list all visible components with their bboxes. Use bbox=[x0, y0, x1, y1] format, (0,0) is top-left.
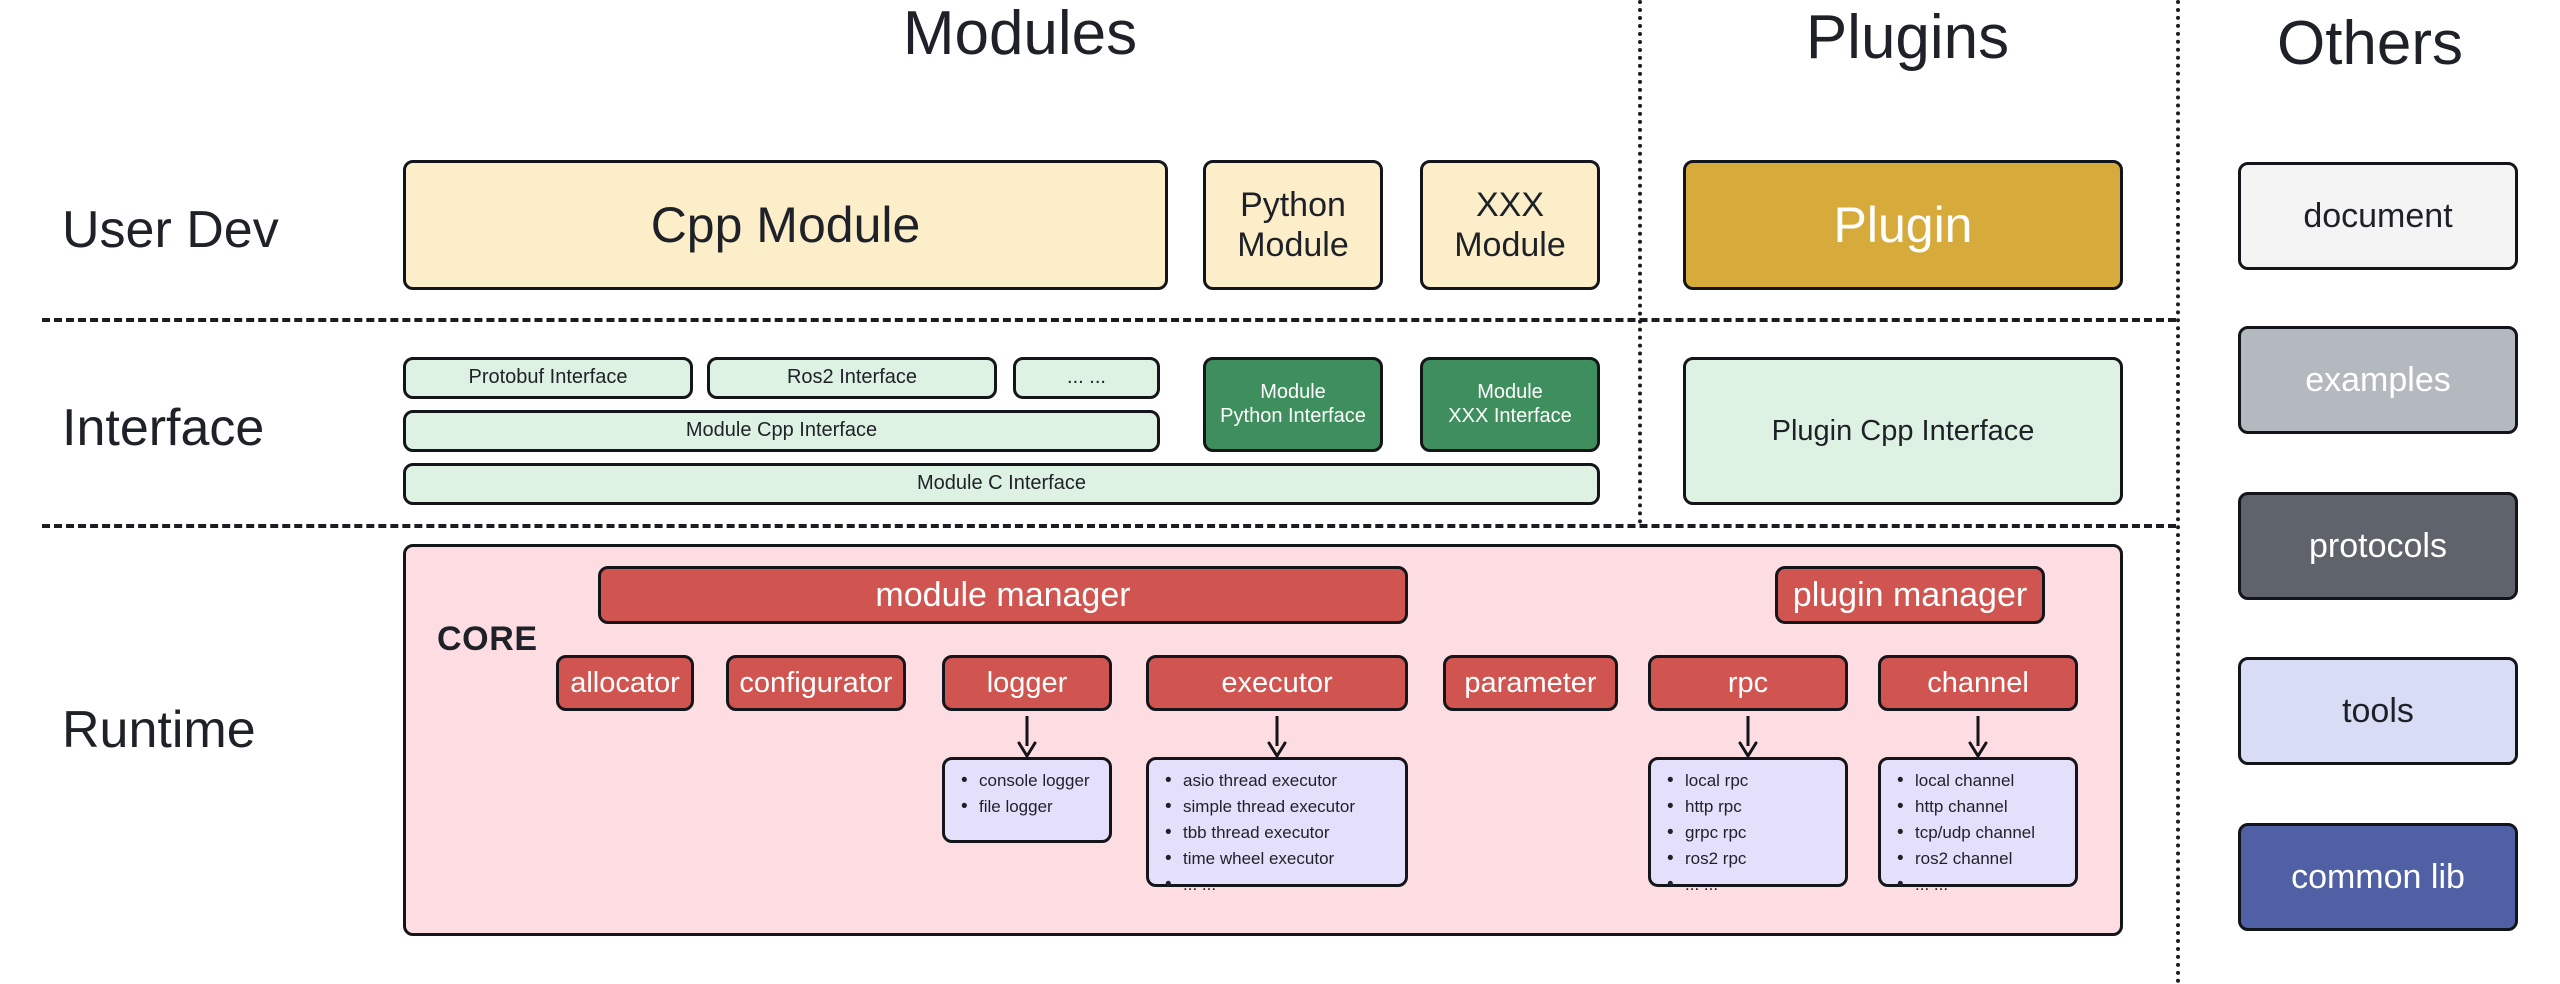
core-detail-executor-list: asio thread executor simple thread execu… bbox=[1163, 772, 1395, 902]
core-detail-executor-item: ... ... bbox=[1183, 876, 1395, 893]
core-module-manager[interactable]: module manager bbox=[598, 566, 1408, 624]
core-detail-channel-item: http channel bbox=[1915, 798, 2065, 815]
core-detail-rpc-item: grpc rpc bbox=[1685, 824, 1835, 841]
others-item-document-label: document bbox=[2303, 196, 2452, 236]
core-component-executor[interactable]: executor bbox=[1146, 655, 1408, 711]
core-module-manager-label: module manager bbox=[875, 575, 1130, 615]
core-detail-rpc-item: http rpc bbox=[1685, 798, 1835, 815]
interface-etc[interactable]: ... ... bbox=[1013, 357, 1160, 399]
architecture-diagram: Modules Plugins Others User Dev Interfac… bbox=[0, 0, 2560, 984]
interface-module-cpp-label: Module Cpp Interface bbox=[686, 419, 877, 443]
core-component-rpc[interactable]: rpc bbox=[1648, 655, 1848, 711]
down-arrow-icon-channel bbox=[1966, 716, 1990, 758]
user-dev-python-module-label: Python Module bbox=[1212, 185, 1374, 265]
interface-etc-label: ... ... bbox=[1067, 366, 1106, 390]
row-title-user-dev: User Dev bbox=[62, 200, 279, 260]
column-title-modules: Modules bbox=[820, 0, 1220, 69]
core-component-parameter[interactable]: parameter bbox=[1443, 655, 1618, 711]
core-detail-rpc-item: ... ... bbox=[1685, 876, 1835, 893]
core-detail-executor-item: tbb thread executor bbox=[1183, 824, 1395, 841]
column-title-others: Others bbox=[2180, 8, 2560, 79]
down-arrow-icon-executor bbox=[1265, 716, 1289, 758]
user-dev-xxx-module-label: XXX Module bbox=[1429, 185, 1591, 265]
interface-protobuf[interactable]: Protobuf Interface bbox=[403, 357, 693, 399]
core-detail-channel-item: local channel bbox=[1915, 772, 2065, 789]
others-item-document[interactable]: document bbox=[2238, 162, 2518, 270]
core-component-configurator[interactable]: configurator bbox=[726, 655, 906, 711]
interface-plugin-cpp[interactable]: Plugin Cpp Interface bbox=[1683, 357, 2123, 505]
row-separator-interface-runtime bbox=[42, 524, 2176, 528]
core-component-logger-label: logger bbox=[987, 666, 1068, 700]
core-detail-channel-item: ros2 channel bbox=[1915, 850, 2065, 867]
interface-module-xxx[interactable]: Module XXX Interface bbox=[1420, 357, 1600, 452]
core-component-configurator-label: configurator bbox=[739, 666, 892, 700]
row-title-runtime: Runtime bbox=[62, 700, 256, 760]
down-arrow-icon-logger bbox=[1015, 716, 1039, 758]
interface-protobuf-label: Protobuf Interface bbox=[469, 366, 628, 390]
interface-ros2-label: Ros2 Interface bbox=[787, 366, 917, 390]
core-detail-executor-item: time wheel executor bbox=[1183, 850, 1395, 867]
core-detail-rpc-item: local rpc bbox=[1685, 772, 1835, 789]
core-detail-logger-item: file logger bbox=[979, 798, 1099, 815]
core-label: CORE bbox=[437, 620, 538, 659]
core-detail-channel: local channel http channel tcp/udp chann… bbox=[1878, 757, 2078, 887]
core-component-allocator-label: allocator bbox=[570, 666, 680, 700]
interface-module-xxx-label-line2: XXX Interface bbox=[1448, 405, 1571, 429]
others-item-common-lib-label: common lib bbox=[2291, 857, 2465, 897]
interface-module-cpp[interactable]: Module Cpp Interface bbox=[403, 410, 1160, 452]
interface-plugin-cpp-label: Plugin Cpp Interface bbox=[1772, 414, 2035, 448]
core-plugin-manager-label: plugin manager bbox=[1793, 575, 2027, 615]
column-separator-modules-plugins bbox=[1638, 0, 1642, 524]
core-component-executor-label: executor bbox=[1221, 666, 1332, 700]
interface-module-python[interactable]: Module Python Interface bbox=[1203, 357, 1383, 452]
core-component-channel-label: channel bbox=[1927, 666, 2029, 700]
core-detail-executor-item: asio thread executor bbox=[1183, 772, 1395, 789]
core-plugin-manager[interactable]: plugin manager bbox=[1775, 566, 2045, 624]
core-detail-executor-item: simple thread executor bbox=[1183, 798, 1395, 815]
others-item-examples-label: examples bbox=[2305, 360, 2451, 400]
column-title-plugins: Plugins bbox=[1640, 2, 2175, 73]
interface-ros2[interactable]: Ros2 Interface bbox=[707, 357, 997, 399]
core-detail-channel-item: ... ... bbox=[1915, 876, 2065, 893]
user-dev-xxx-module[interactable]: XXX Module bbox=[1420, 160, 1600, 290]
core-component-channel[interactable]: channel bbox=[1878, 655, 2078, 711]
user-dev-plugin[interactable]: Plugin bbox=[1683, 160, 2123, 290]
others-item-tools[interactable]: tools bbox=[2238, 657, 2518, 765]
row-separator-user-dev-interface bbox=[42, 318, 2176, 322]
user-dev-plugin-label: Plugin bbox=[1834, 196, 1973, 255]
interface-module-xxx-label-line1: Module bbox=[1477, 381, 1543, 405]
core-detail-logger: console logger file logger bbox=[942, 757, 1112, 843]
column-separator-plugins-others bbox=[2176, 0, 2180, 984]
core-detail-executor: asio thread executor simple thread execu… bbox=[1146, 757, 1408, 887]
core-detail-channel-item: tcp/udp channel bbox=[1915, 824, 2065, 841]
user-dev-python-module[interactable]: Python Module bbox=[1203, 160, 1383, 290]
others-item-protocols[interactable]: protocols bbox=[2238, 492, 2518, 600]
core-component-rpc-label: rpc bbox=[1728, 666, 1768, 700]
interface-module-python-label-line1: Module bbox=[1260, 381, 1326, 405]
interface-module-python-label-line2: Python Interface bbox=[1220, 405, 1366, 429]
core-component-logger[interactable]: logger bbox=[942, 655, 1112, 711]
core-detail-logger-list: console logger file logger bbox=[959, 772, 1099, 824]
interface-module-c[interactable]: Module C Interface bbox=[403, 463, 1600, 505]
others-item-common-lib[interactable]: common lib bbox=[2238, 823, 2518, 931]
core-component-allocator[interactable]: allocator bbox=[556, 655, 694, 711]
core-component-parameter-label: parameter bbox=[1464, 666, 1596, 700]
others-item-tools-label: tools bbox=[2342, 691, 2414, 731]
others-item-protocols-label: protocols bbox=[2309, 526, 2447, 566]
others-item-examples[interactable]: examples bbox=[2238, 326, 2518, 434]
row-title-interface: Interface bbox=[62, 398, 264, 458]
core-detail-rpc: local rpc http rpc grpc rpc ros2 rpc ...… bbox=[1648, 757, 1848, 887]
user-dev-cpp-module-label: Cpp Module bbox=[651, 196, 921, 255]
down-arrow-icon-rpc bbox=[1736, 716, 1760, 758]
core-detail-rpc-list: local rpc http rpc grpc rpc ros2 rpc ...… bbox=[1665, 772, 1835, 902]
core-detail-channel-list: local channel http channel tcp/udp chann… bbox=[1895, 772, 2065, 902]
user-dev-cpp-module[interactable]: Cpp Module bbox=[403, 160, 1168, 290]
interface-module-c-label: Module C Interface bbox=[917, 472, 1086, 496]
core-detail-logger-item: console logger bbox=[979, 772, 1099, 789]
core-detail-rpc-item: ros2 rpc bbox=[1685, 850, 1835, 867]
